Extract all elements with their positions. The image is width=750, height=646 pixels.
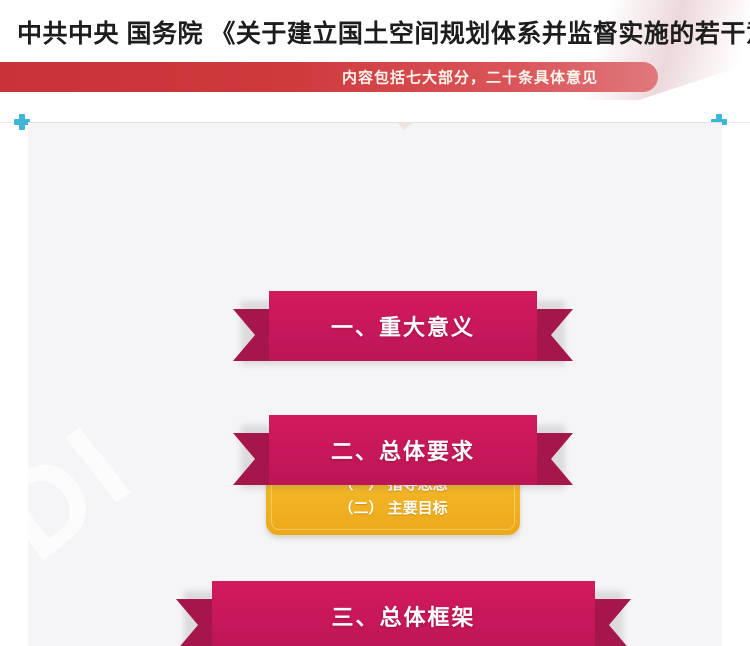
list-item[interactable]: （二） 主要目标	[284, 497, 502, 521]
subtitle-banner: 内容包括七大部分，二十条具体意见	[0, 62, 658, 92]
section-title-2: 二、总体要求	[233, 415, 573, 485]
section-ribbon-3[interactable]: 三、总体框架	[176, 581, 631, 646]
watermark: DI DI	[28, 123, 722, 646]
section-ribbon-1[interactable]: 一、重大意义	[233, 291, 573, 363]
list-item-number: （二）	[338, 500, 383, 517]
watermark-text-left: DI	[28, 397, 158, 587]
content-panel: DI DI 一、重大意义 （一） 指导思想 （二） 主要目标	[0, 100, 750, 646]
panel-inner-surface: DI DI 一、重大意义 （一） 指导思想 （二） 主要目标	[28, 122, 722, 646]
header: 中共中央 国务院 《关于建立国土空间规划体系并监督实施的若干意见》 内容包括七大…	[0, 0, 750, 100]
section-ribbon-2[interactable]: 二、总体要求	[233, 415, 573, 487]
section-title-3: 三、总体框架	[176, 581, 631, 646]
page-title: 中共中央 国务院 《关于建立国土空间规划体系并监督实施的若干意见》	[17, 22, 750, 47]
section-title-1: 一、重大意义	[233, 291, 573, 361]
list-item-label: 主要目标	[388, 500, 448, 517]
watermark-text-right: DI	[330, 123, 519, 157]
subtitle-banner-text: 内容包括七大部分，二十条具体意见	[342, 67, 598, 88]
